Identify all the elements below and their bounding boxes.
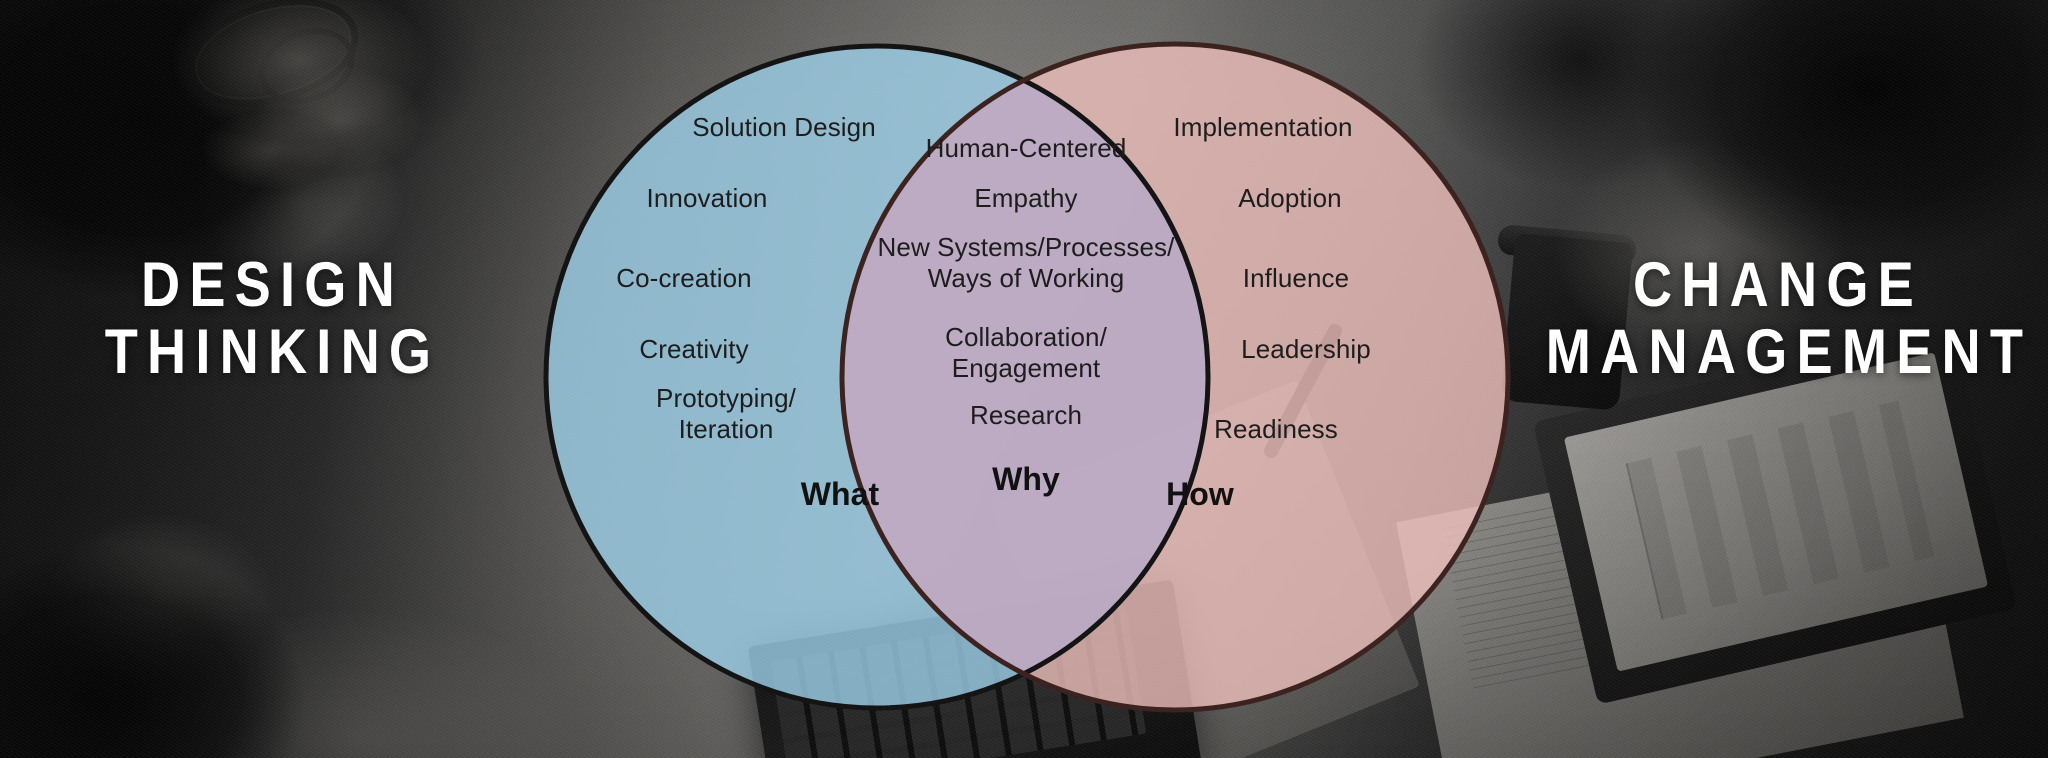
label-line: Co-creation: [616, 263, 752, 294]
label-line: Engagement: [945, 353, 1107, 384]
label-line: New Systems/Processes/: [878, 232, 1175, 263]
venn-zone-label-1: What: [801, 476, 880, 514]
venn-item-change-management-4: Leadership: [1241, 334, 1371, 365]
title-line-1: DESIGN: [38, 252, 507, 319]
label-line: Readiness: [1214, 414, 1338, 445]
label-line: Influence: [1243, 263, 1349, 294]
venn-item-shared-2: Empathy: [974, 183, 1077, 214]
label-line: What: [801, 476, 880, 514]
title-line-2: THINKING: [38, 319, 507, 386]
venn-item-shared-1: Human-Centered: [926, 133, 1127, 164]
title-line-1: CHANGE: [1546, 252, 2010, 319]
venn-item-design-thinking-3: Co-creation: [616, 263, 752, 294]
venn-zone-label-3: How: [1166, 476, 1234, 514]
venn-item-design-thinking-4: Creativity: [639, 334, 748, 365]
label-line: Adoption: [1238, 183, 1341, 214]
venn-item-design-thinking-1: Solution Design: [692, 112, 876, 143]
title-design-thinking: DESIGN THINKING: [38, 252, 507, 386]
venn-item-change-management-3: Influence: [1243, 263, 1349, 294]
venn-item-design-thinking-2: Innovation: [647, 183, 768, 214]
label-line: Solution Design: [692, 112, 876, 143]
title-line-2: MANAGEMENT: [1546, 319, 2010, 386]
label-line: Prototyping/: [656, 383, 796, 414]
label-line: Innovation: [647, 183, 768, 214]
title-change-management: CHANGE MANAGEMENT: [1546, 252, 2010, 386]
label-line: Implementation: [1173, 112, 1352, 143]
venn-item-design-thinking-5: Prototyping/Iteration: [656, 383, 796, 444]
label-line: Collaboration/: [945, 322, 1107, 353]
venn-item-change-management-1: Implementation: [1173, 112, 1352, 143]
venn-zone-label-2: Why: [992, 461, 1060, 499]
venn-item-shared-3: New Systems/Processes/Ways of Working: [878, 232, 1175, 293]
label-line: Human-Centered: [926, 133, 1127, 164]
label-line: Research: [970, 400, 1082, 431]
banner-canvas: DESIGN THINKING CHANGE MANAGEMENT Soluti…: [0, 0, 2048, 758]
label-line: Creativity: [639, 334, 748, 365]
label-line: How: [1166, 476, 1234, 514]
label-line: Why: [992, 461, 1060, 499]
venn-item-change-management-5: Readiness: [1214, 414, 1338, 445]
venn-item-shared-4: Collaboration/Engagement: [945, 322, 1107, 383]
label-line: Ways of Working: [878, 263, 1175, 294]
label-line: Iteration: [656, 414, 796, 445]
label-line: Leadership: [1241, 334, 1371, 365]
label-line: Empathy: [974, 183, 1077, 214]
venn-item-change-management-2: Adoption: [1238, 183, 1341, 214]
venn-item-shared-5: Research: [970, 400, 1082, 431]
